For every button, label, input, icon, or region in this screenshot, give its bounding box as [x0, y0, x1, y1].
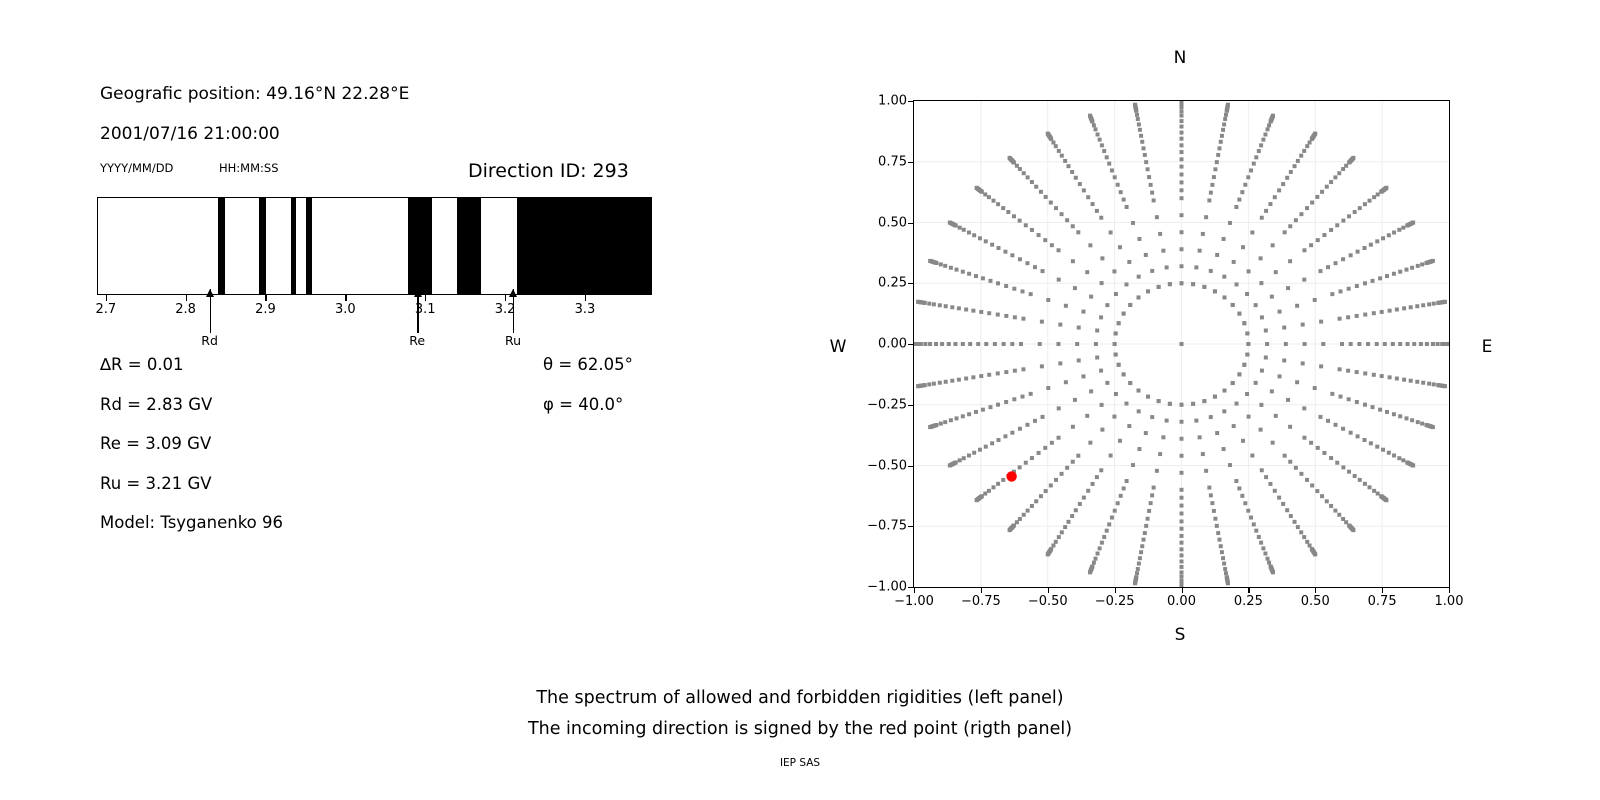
- grid-point: [1225, 578, 1229, 582]
- grid-point: [1363, 371, 1367, 375]
- grid-point: [1137, 122, 1141, 126]
- grid-point: [1063, 525, 1067, 529]
- grid-point: [996, 482, 1000, 486]
- grid-point: [1158, 452, 1162, 456]
- grid-point: [1299, 530, 1303, 534]
- grid-point: [1282, 326, 1286, 330]
- grid-point: [1222, 409, 1226, 413]
- grid-point: [1204, 215, 1208, 219]
- grid-point: [1010, 431, 1014, 435]
- grid-point: [1044, 489, 1048, 493]
- grid-point: [1003, 434, 1007, 438]
- grid-point: [939, 422, 943, 426]
- grid-point: [1180, 196, 1184, 200]
- grid-point: [1277, 188, 1281, 192]
- grid-point: [1241, 245, 1245, 249]
- grid-point: [1161, 249, 1165, 253]
- grid-point: [1180, 119, 1184, 123]
- grid-point: [1325, 499, 1329, 503]
- grid-point: [1271, 243, 1275, 247]
- y-axis-tick: [908, 466, 914, 467]
- grid-point: [1074, 176, 1078, 180]
- grid-point: [1144, 160, 1148, 164]
- grid-point: [1338, 317, 1342, 321]
- x-axis-tick: [1182, 587, 1183, 593]
- grid-point: [1237, 486, 1241, 490]
- stat-line: Ru = 3.21 GV: [100, 474, 212, 493]
- grid-point: [1263, 552, 1267, 556]
- grid-point: [1325, 185, 1329, 189]
- axis-tick: [505, 295, 506, 301]
- grid-point: [1415, 304, 1419, 308]
- grid-point: [1063, 159, 1067, 163]
- grid-point: [1128, 303, 1132, 307]
- grid-point: [1347, 397, 1351, 401]
- grid-point: [1046, 386, 1050, 390]
- grid-point: [1302, 149, 1306, 153]
- grid-point: [1222, 389, 1226, 393]
- grid-point: [1387, 233, 1391, 237]
- axis-tick: [106, 295, 107, 301]
- grid-point: [1246, 175, 1250, 179]
- grid-point: [1180, 180, 1184, 184]
- grid-point: [1222, 295, 1226, 299]
- grid-point: [940, 342, 944, 346]
- grid-point: [1105, 155, 1109, 159]
- y-axis-tick: [908, 283, 914, 284]
- grid-point: [1180, 512, 1184, 516]
- stat-line: Re = 3.09 GV: [100, 434, 211, 453]
- grid-point: [1086, 489, 1090, 493]
- grid-point: [1330, 292, 1334, 296]
- grid-point: [1260, 468, 1264, 472]
- grid-point: [1260, 369, 1264, 373]
- grid-point: [1220, 134, 1224, 138]
- grid-point: [1349, 253, 1353, 257]
- grid-point: [1033, 265, 1037, 269]
- grid-point: [1180, 173, 1184, 177]
- grid-point: [1282, 358, 1286, 362]
- grid-point: [1137, 562, 1141, 566]
- compass-label-north: N: [1174, 48, 1187, 68]
- grid-point: [1295, 304, 1299, 308]
- grid-point: [1271, 441, 1275, 445]
- grid-point: [1375, 239, 1379, 243]
- grid-point: [955, 416, 959, 420]
- grid-point: [1222, 122, 1226, 126]
- grid-point: [1369, 243, 1373, 247]
- grid-point: [1313, 386, 1317, 390]
- grid-point: [1180, 582, 1184, 586]
- direction-id-text: Direction ID: 293: [468, 160, 629, 182]
- grid-point: [1180, 565, 1184, 569]
- grid-point: [1100, 541, 1104, 545]
- grid-point: [1085, 270, 1089, 274]
- grid-point: [1398, 414, 1402, 418]
- grid-point: [1025, 261, 1029, 265]
- grid-point: [1312, 134, 1316, 138]
- grid-point: [1076, 230, 1080, 234]
- grid-point: [1107, 522, 1111, 526]
- grid-point: [1018, 427, 1022, 431]
- grid-point: [967, 272, 971, 276]
- grid-point: [1277, 496, 1281, 500]
- grid-point: [1397, 456, 1401, 460]
- grid-point: [1116, 183, 1120, 187]
- grid-point: [1209, 415, 1213, 419]
- grid-point: [1149, 183, 1153, 187]
- grid-point: [1286, 286, 1290, 290]
- grid-point: [1410, 266, 1414, 270]
- grid-point: [1118, 245, 1122, 249]
- grid-point: [1180, 437, 1184, 441]
- grid-point: [1024, 223, 1028, 227]
- grid-point: [1191, 282, 1195, 286]
- grid-point: [996, 202, 1000, 206]
- grid-point: [1378, 408, 1382, 412]
- grid-point: [1302, 436, 1306, 440]
- grid-point: [1137, 275, 1141, 279]
- grid-point: [1267, 123, 1271, 127]
- grid-point: [1334, 423, 1338, 427]
- grid-point: [1168, 402, 1172, 406]
- grid-point: [979, 374, 983, 378]
- grid-point: [1320, 190, 1324, 194]
- grid-point: [996, 438, 1000, 442]
- grid-point: [1420, 262, 1424, 266]
- grid-point: [1288, 224, 1292, 228]
- grid-point: [1194, 265, 1198, 269]
- stat-line: φ = 40.0°: [543, 395, 623, 414]
- grid-point: [1152, 198, 1156, 202]
- grid-point: [984, 445, 988, 449]
- grid-point: [1264, 475, 1268, 479]
- grid-point: [1363, 482, 1367, 486]
- plot-frame: −1.00−0.75−0.50−0.250.000.250.500.751.00…: [913, 100, 1450, 588]
- grid-point: [1118, 439, 1122, 443]
- grid-point: [1144, 431, 1148, 435]
- grid-point: [1363, 438, 1367, 442]
- y-axis-tick-label: −0.50: [867, 458, 907, 473]
- grid-point: [961, 342, 965, 346]
- grid-point: [1259, 281, 1263, 285]
- grid-point: [1039, 494, 1043, 498]
- grid-point: [977, 496, 981, 500]
- grid-point: [1131, 221, 1135, 225]
- grid-point: [1094, 557, 1098, 561]
- grid-point: [1071, 425, 1075, 429]
- axis-tick: [265, 295, 266, 301]
- grid-point: [1333, 175, 1337, 179]
- grid-point: [1100, 256, 1104, 260]
- grid-point: [1308, 141, 1312, 145]
- grid-point: [1213, 517, 1217, 521]
- grid-point: [1094, 342, 1098, 346]
- grid-point: [1366, 342, 1370, 346]
- grid-point: [1299, 154, 1303, 158]
- grid-point: [1356, 434, 1360, 438]
- grid-point: [1421, 303, 1425, 307]
- grid-point: [1152, 486, 1156, 490]
- caption-line-1: The spectrum of allowed and forbidden ri…: [536, 688, 1063, 708]
- grid-point: [1105, 529, 1109, 533]
- grid-point: [1259, 143, 1263, 147]
- grid-point: [1095, 329, 1099, 333]
- grid-point: [928, 342, 932, 346]
- grid-point: [1254, 303, 1258, 307]
- x-axis-tick-label: 0.50: [1301, 594, 1330, 609]
- grid-point: [1402, 378, 1406, 382]
- grid-point: [931, 260, 935, 264]
- y-axis-tick-label: −1.00: [867, 580, 907, 595]
- grid-point: [1219, 140, 1223, 144]
- grid-point: [1137, 447, 1141, 451]
- grid-point: [1089, 295, 1093, 299]
- grid-point: [939, 262, 943, 266]
- grid-point: [1221, 556, 1225, 560]
- grid-point: [1140, 544, 1144, 548]
- grid-point: [1140, 140, 1144, 144]
- grid-point: [1180, 496, 1184, 500]
- grid-point: [1228, 221, 1232, 225]
- grid-point: [1259, 541, 1263, 545]
- grid-point: [1243, 183, 1247, 187]
- grid-point: [990, 243, 994, 247]
- grid-point: [1109, 454, 1113, 458]
- grid-point: [1054, 478, 1058, 482]
- grid-point: [1100, 143, 1104, 147]
- grid-point: [1388, 309, 1392, 313]
- grid-point: [1137, 389, 1141, 393]
- grid-point: [957, 378, 961, 382]
- grid-point: [1150, 191, 1154, 195]
- grid-point: [1057, 248, 1061, 252]
- grid-point: [1168, 282, 1172, 286]
- grid-point: [1349, 342, 1353, 346]
- grid-point: [1180, 150, 1184, 154]
- x-axis-tick: [1315, 587, 1316, 593]
- grid-point: [1254, 155, 1258, 159]
- grid-point: [1316, 446, 1320, 450]
- grid-point: [1347, 214, 1351, 218]
- grid-point: [1180, 213, 1184, 217]
- grid-point: [1180, 519, 1184, 523]
- grid-point: [1268, 202, 1272, 206]
- grid-point: [1381, 448, 1385, 452]
- grid-point: [1368, 199, 1372, 203]
- grid-point: [1047, 134, 1051, 138]
- grid-point: [1388, 375, 1392, 379]
- grid-point: [1237, 312, 1241, 316]
- grid-point: [1223, 567, 1227, 571]
- grid-point: [1270, 117, 1274, 121]
- grid-point: [1305, 206, 1309, 210]
- grid-point: [947, 342, 951, 346]
- grid-point: [1180, 342, 1184, 346]
- grid-point: [1051, 544, 1055, 548]
- grid-point: [938, 381, 942, 385]
- grid-point: [1119, 494, 1123, 498]
- grid-point: [1125, 205, 1129, 209]
- grid-point: [1222, 275, 1226, 279]
- grid-point: [1296, 525, 1300, 529]
- grid-point: [978, 236, 982, 240]
- highlight-point-incoming-direction: [1006, 471, 1016, 481]
- grid-point: [1392, 453, 1396, 457]
- grid-point: [1092, 123, 1096, 127]
- grid-point: [1293, 164, 1297, 168]
- grid-point: [1010, 158, 1014, 162]
- grid-point: [1150, 415, 1154, 419]
- grid-point: [1114, 292, 1118, 296]
- grid-point: [1180, 527, 1184, 531]
- grid-point: [977, 188, 981, 192]
- grid-point: [1212, 509, 1216, 513]
- grid-point: [1301, 361, 1305, 365]
- grid-point: [1252, 522, 1256, 526]
- grid-point: [1127, 424, 1131, 428]
- grid-point: [1410, 418, 1414, 422]
- grid-point: [944, 304, 948, 308]
- grid-point: [931, 424, 935, 428]
- grid-point: [996, 281, 1000, 285]
- grid-point: [1303, 342, 1307, 346]
- polar-scatter-panel: −1.00−0.75−0.50−0.250.000.250.500.751.00…: [820, 40, 1520, 660]
- grid-point: [974, 274, 978, 278]
- grid-point: [1026, 175, 1030, 179]
- grid-point: [1261, 546, 1265, 550]
- grid-point: [1319, 269, 1323, 273]
- grid-point: [1018, 257, 1022, 261]
- forbidden-band: [457, 198, 481, 294]
- grid-point: [1371, 405, 1375, 409]
- grid-point: [1250, 230, 1254, 234]
- grid-point: [1334, 261, 1338, 265]
- grid-point: [962, 228, 966, 232]
- grid-point: [1137, 409, 1141, 413]
- grid-point: [1347, 470, 1351, 474]
- grid-point: [1095, 209, 1099, 213]
- grid-point: [1427, 302, 1431, 306]
- grid-point: [1288, 425, 1292, 429]
- grid-point: [1241, 439, 1245, 443]
- forbidden-band: [408, 198, 432, 294]
- grid-point: [1338, 367, 1342, 371]
- grid-point: [984, 239, 988, 243]
- grid-point: [1146, 517, 1150, 521]
- grid-point: [1054, 144, 1058, 148]
- grid-point: [1066, 164, 1070, 168]
- grid-point: [974, 410, 978, 414]
- grid-point: [1180, 281, 1184, 285]
- grid-point: [972, 451, 976, 455]
- grid-point: [1259, 403, 1263, 407]
- grid-point: [1127, 260, 1131, 264]
- grid-point: [1382, 188, 1386, 192]
- grid-point: [1138, 128, 1142, 132]
- grid-point: [1138, 556, 1142, 560]
- grid-point: [1065, 218, 1069, 222]
- grid-point: [1369, 441, 1373, 445]
- grid-point: [1096, 133, 1100, 137]
- grid-point: [1180, 541, 1184, 545]
- x-axis-tick-label: −0.50: [1028, 594, 1068, 609]
- grid-point: [1220, 550, 1224, 554]
- grid-point: [1180, 102, 1184, 106]
- grid-point: [1338, 395, 1342, 399]
- grid-point: [1180, 131, 1184, 135]
- grid-point: [1309, 243, 1313, 247]
- grid-point: [1372, 311, 1376, 315]
- grid-point: [1198, 249, 1202, 253]
- grid-point: [1254, 529, 1258, 533]
- grid-point: [1004, 284, 1008, 288]
- x-axis-tick: [914, 587, 915, 593]
- grid-point: [932, 382, 936, 386]
- datetime-text: 2001/07/16 21:00:00: [100, 124, 280, 144]
- grid-point: [1249, 516, 1253, 520]
- grid-point: [1089, 389, 1093, 393]
- grid-point: [1212, 175, 1216, 179]
- grid-point: [1401, 458, 1405, 462]
- grid-point: [1382, 496, 1386, 500]
- grid-point: [1305, 144, 1309, 148]
- grid-point: [1085, 414, 1089, 418]
- grid-point: [1029, 392, 1033, 396]
- grid-point: [1431, 342, 1435, 346]
- grid-point: [1232, 424, 1236, 428]
- grid-point: [1231, 303, 1235, 307]
- grid-point: [991, 485, 995, 489]
- grid-point: [1147, 509, 1151, 513]
- grid-point: [1299, 472, 1303, 476]
- grid-point: [1216, 531, 1220, 535]
- grid-point: [971, 309, 975, 313]
- grid-point: [1257, 535, 1261, 539]
- grid-point: [1322, 233, 1326, 237]
- grid-point: [967, 231, 971, 235]
- grid-point: [1180, 575, 1184, 579]
- grid-point: [1144, 524, 1148, 528]
- grid-point: [1001, 206, 1005, 210]
- grid-point: [1095, 356, 1099, 360]
- axis-tick: [585, 295, 586, 301]
- grid-point: [1034, 185, 1038, 189]
- grid-point: [1302, 406, 1306, 410]
- grid-point: [1070, 514, 1074, 518]
- grid-point: [1202, 285, 1206, 289]
- grid-point: [1385, 410, 1389, 414]
- grid-point: [1376, 192, 1380, 196]
- grid-point: [1180, 137, 1184, 141]
- grid-point: [1319, 364, 1323, 368]
- grid-point: [943, 420, 947, 424]
- y-axis-tick-label: 0.25: [878, 276, 907, 291]
- grid-point: [1363, 281, 1367, 285]
- grid-point: [996, 313, 1000, 317]
- grid-point: [1341, 257, 1345, 261]
- y-axis-tick-label: −0.25: [867, 397, 907, 412]
- grid-point: [1003, 250, 1007, 254]
- grid-point: [1265, 342, 1269, 346]
- grid-point: [1122, 312, 1126, 316]
- grid-point: [979, 310, 983, 314]
- grid-point: [1302, 535, 1306, 539]
- grid-point: [1191, 402, 1195, 406]
- grid-point: [1150, 269, 1154, 273]
- grid-point: [1013, 315, 1017, 319]
- grid-point: [1202, 399, 1206, 403]
